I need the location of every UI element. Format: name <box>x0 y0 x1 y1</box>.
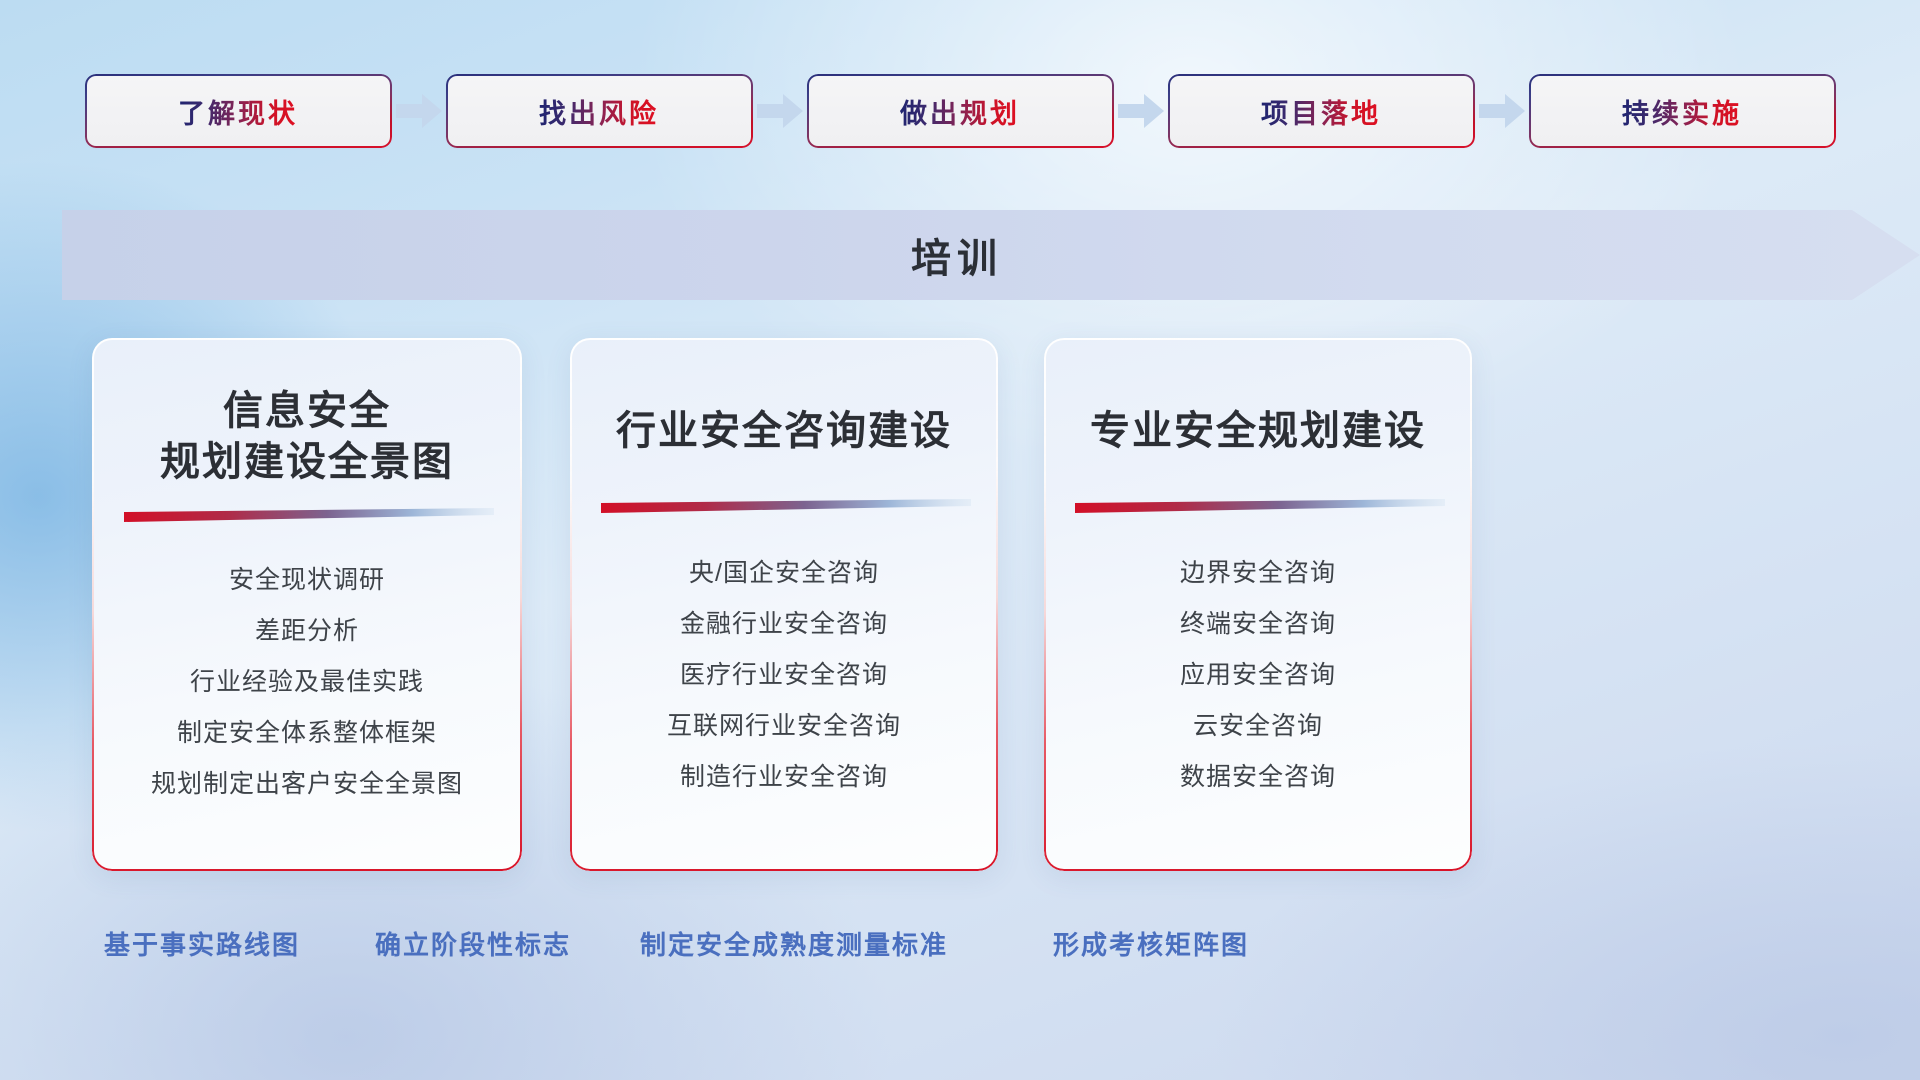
card-divider <box>1044 499 1472 517</box>
step-label: 了解现状 <box>178 92 298 131</box>
list-item: 制定安全体系整体框架 <box>92 721 522 746</box>
banner-title: 培训 <box>62 210 1852 300</box>
card-divider <box>92 508 522 526</box>
arrow-right-icon <box>1473 76 1531 146</box>
card-row: 信息安全 规划建设全景图 <box>0 338 1920 871</box>
footnote-row: 基于事实路线图 确立阶段性标志 制定安全成熟度测量标准 形成考核矩阵图 <box>0 925 1920 981</box>
list-item: 金融行业安全咨询 <box>570 612 998 637</box>
list-item: 差距分析 <box>92 619 522 644</box>
list-item: 安全现状调研 <box>92 568 522 593</box>
arrow-right-icon <box>390 76 448 146</box>
slide-canvas: 了解现状 找出风险 做出规划 项目落地 持续实施 <box>0 0 1920 1080</box>
footnote-label: 制定安全成熟度测量标准 <box>640 925 948 962</box>
arrow-right-icon <box>1112 76 1170 146</box>
arrow-right-icon <box>751 76 809 146</box>
card-industry-security-consulting[interactable]: 行业安全咨询建设 <box>570 338 998 871</box>
list-item: 央/国企安全咨询 <box>570 561 998 586</box>
card-title: 行业安全咨询建设 <box>616 338 952 457</box>
list-item: 医疗行业安全咨询 <box>570 663 998 688</box>
list-item: 应用安全咨询 <box>1044 663 1472 688</box>
list-item: 制造行业安全咨询 <box>570 765 998 790</box>
card-divider <box>570 499 998 517</box>
card-item-list: 边界安全咨询 终端安全咨询 应用安全咨询 云安全咨询 数据安全咨询 <box>1044 561 1472 790</box>
list-item: 行业经验及最佳实践 <box>92 670 522 695</box>
list-item: 边界安全咨询 <box>1044 561 1472 586</box>
list-item: 互联网行业安全咨询 <box>570 714 998 739</box>
list-item: 数据安全咨询 <box>1044 765 1472 790</box>
step-box-4[interactable]: 项目落地 <box>1170 76 1473 146</box>
step-label: 找出风险 <box>539 92 659 131</box>
step-box-1[interactable]: 了解现状 <box>87 76 390 146</box>
card-item-list: 央/国企安全咨询 金融行业安全咨询 医疗行业安全咨询 互联网行业安全咨询 制造行… <box>570 561 998 790</box>
step-box-5[interactable]: 持续实施 <box>1531 76 1834 146</box>
step-box-3[interactable]: 做出规划 <box>809 76 1112 146</box>
list-item: 规划制定出客户安全全景图 <box>92 772 522 797</box>
card-item-list: 安全现状调研 差距分析 行业经验及最佳实践 制定安全体系整体框架 规划制定出客户… <box>92 568 522 797</box>
list-item: 云安全咨询 <box>1044 714 1472 739</box>
card-professional-security-planning[interactable]: 专业安全规划建设 <box>1044 338 1472 871</box>
step-label: 做出规划 <box>900 92 1020 131</box>
process-step-row: 了解现状 找出风险 做出规划 项目落地 持续实施 <box>0 72 1920 150</box>
training-banner: 培训 <box>62 210 1920 300</box>
card-title: 专业安全规划建设 <box>1090 338 1426 457</box>
footnote-label: 形成考核矩阵图 <box>1053 925 1249 962</box>
card-title: 信息安全 规划建设全景图 <box>160 338 454 488</box>
step-label: 持续实施 <box>1622 92 1742 131</box>
step-box-2[interactable]: 找出风险 <box>448 76 751 146</box>
list-item: 终端安全咨询 <box>1044 612 1472 637</box>
step-label: 项目落地 <box>1261 92 1381 131</box>
footnote-label: 基于事实路线图 <box>104 925 300 962</box>
footnote-label: 确立阶段性标志 <box>375 925 571 962</box>
card-info-security-blueprint[interactable]: 信息安全 规划建设全景图 <box>92 338 522 871</box>
